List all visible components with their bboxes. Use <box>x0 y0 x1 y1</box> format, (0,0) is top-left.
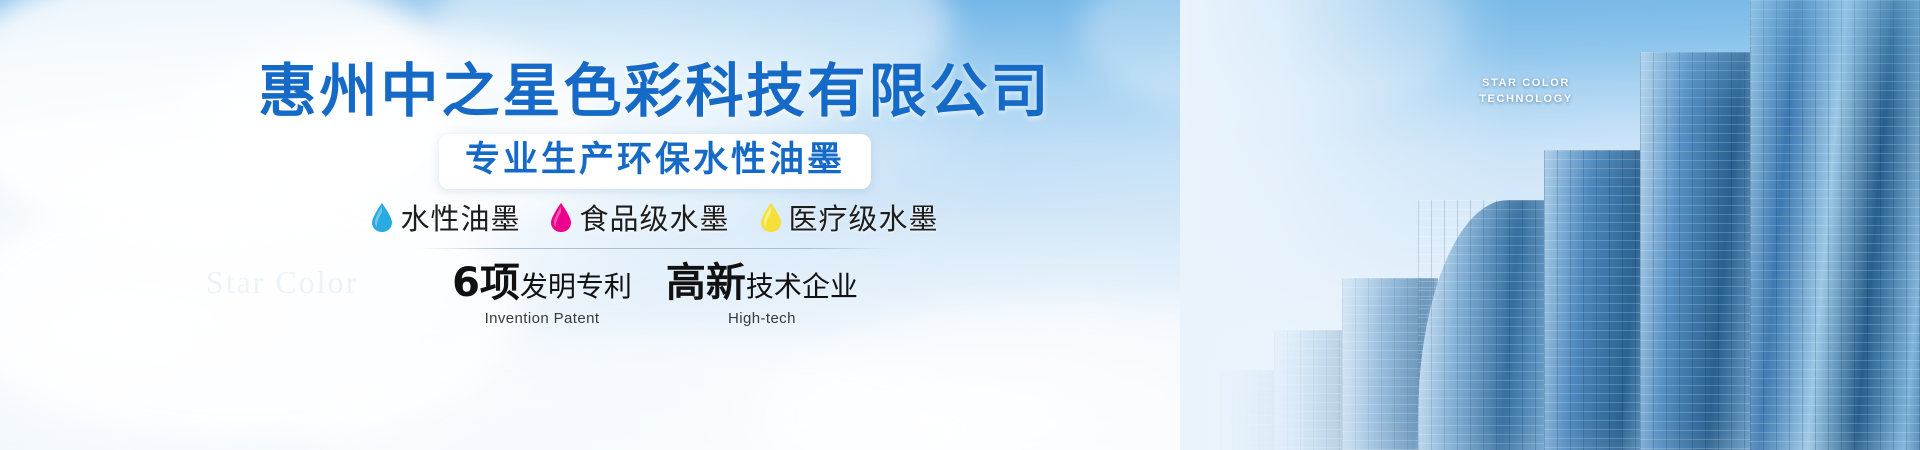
promo-banner: STAR COLOR TECHNOLOGY Star Color 惠州中之星色彩… <box>0 0 1920 450</box>
brand-mark: STAR COLOR TECHNOLOGY <box>1466 76 1586 108</box>
credential-highlight: 高新 <box>666 260 746 306</box>
section-divider <box>418 248 892 249</box>
credential-en-text: Invention Patent <box>452 310 632 327</box>
water-drop-icon <box>760 202 782 233</box>
credential-high-tech: 高新技术企业 High-tech <box>666 262 858 327</box>
feature-item-food-grade-ink: 食品级水墨 <box>550 196 729 238</box>
feature-label: 水性油墨 <box>400 196 520 238</box>
banner-content: 惠州中之星色彩科技有限公司 专业生产环保水性油墨 水性油墨 食品级水墨 <box>0 0 1310 450</box>
feature-label: 医疗级水墨 <box>789 196 939 238</box>
credential-invention-patent: 6项发明专利 Invention Patent <box>452 262 632 327</box>
subtitle-pill-wrapper: 专业生产环保水性油墨 <box>0 134 1310 189</box>
feature-label: 食品级水墨 <box>579 196 729 238</box>
credential-cn-text: 6项发明专利 <box>452 262 632 304</box>
subtitle-text: 专业生产环保水性油墨 <box>465 140 845 180</box>
credential-suffix: 发明专利 <box>520 270 632 303</box>
brand-mark-line2: TECHNOLOGY <box>1466 92 1586 108</box>
credential-en-text: High-tech <box>666 310 858 327</box>
subtitle-pill: 专业生产环保水性油墨 <box>439 134 871 189</box>
water-drop-icon <box>550 202 572 233</box>
brand-mark-line1: STAR COLOR <box>1466 76 1586 92</box>
feature-item-medical-grade-ink: 医疗级水墨 <box>760 196 939 238</box>
company-name-heading: 惠州中之星色彩科技有限公司 <box>0 62 1310 120</box>
credential-highlight: 6项 <box>452 260 520 306</box>
water-drop-icon <box>371 202 393 233</box>
credential-suffix: 技术企业 <box>746 270 858 303</box>
feature-list: 水性油墨 食品级水墨 医疗级水墨 <box>0 196 1310 238</box>
feature-item-water-ink: 水性油墨 <box>371 196 520 238</box>
credentials-row: 6项发明专利 Invention Patent 高新技术企业 High-tech <box>0 262 1310 327</box>
credential-cn-text: 高新技术企业 <box>666 262 858 304</box>
